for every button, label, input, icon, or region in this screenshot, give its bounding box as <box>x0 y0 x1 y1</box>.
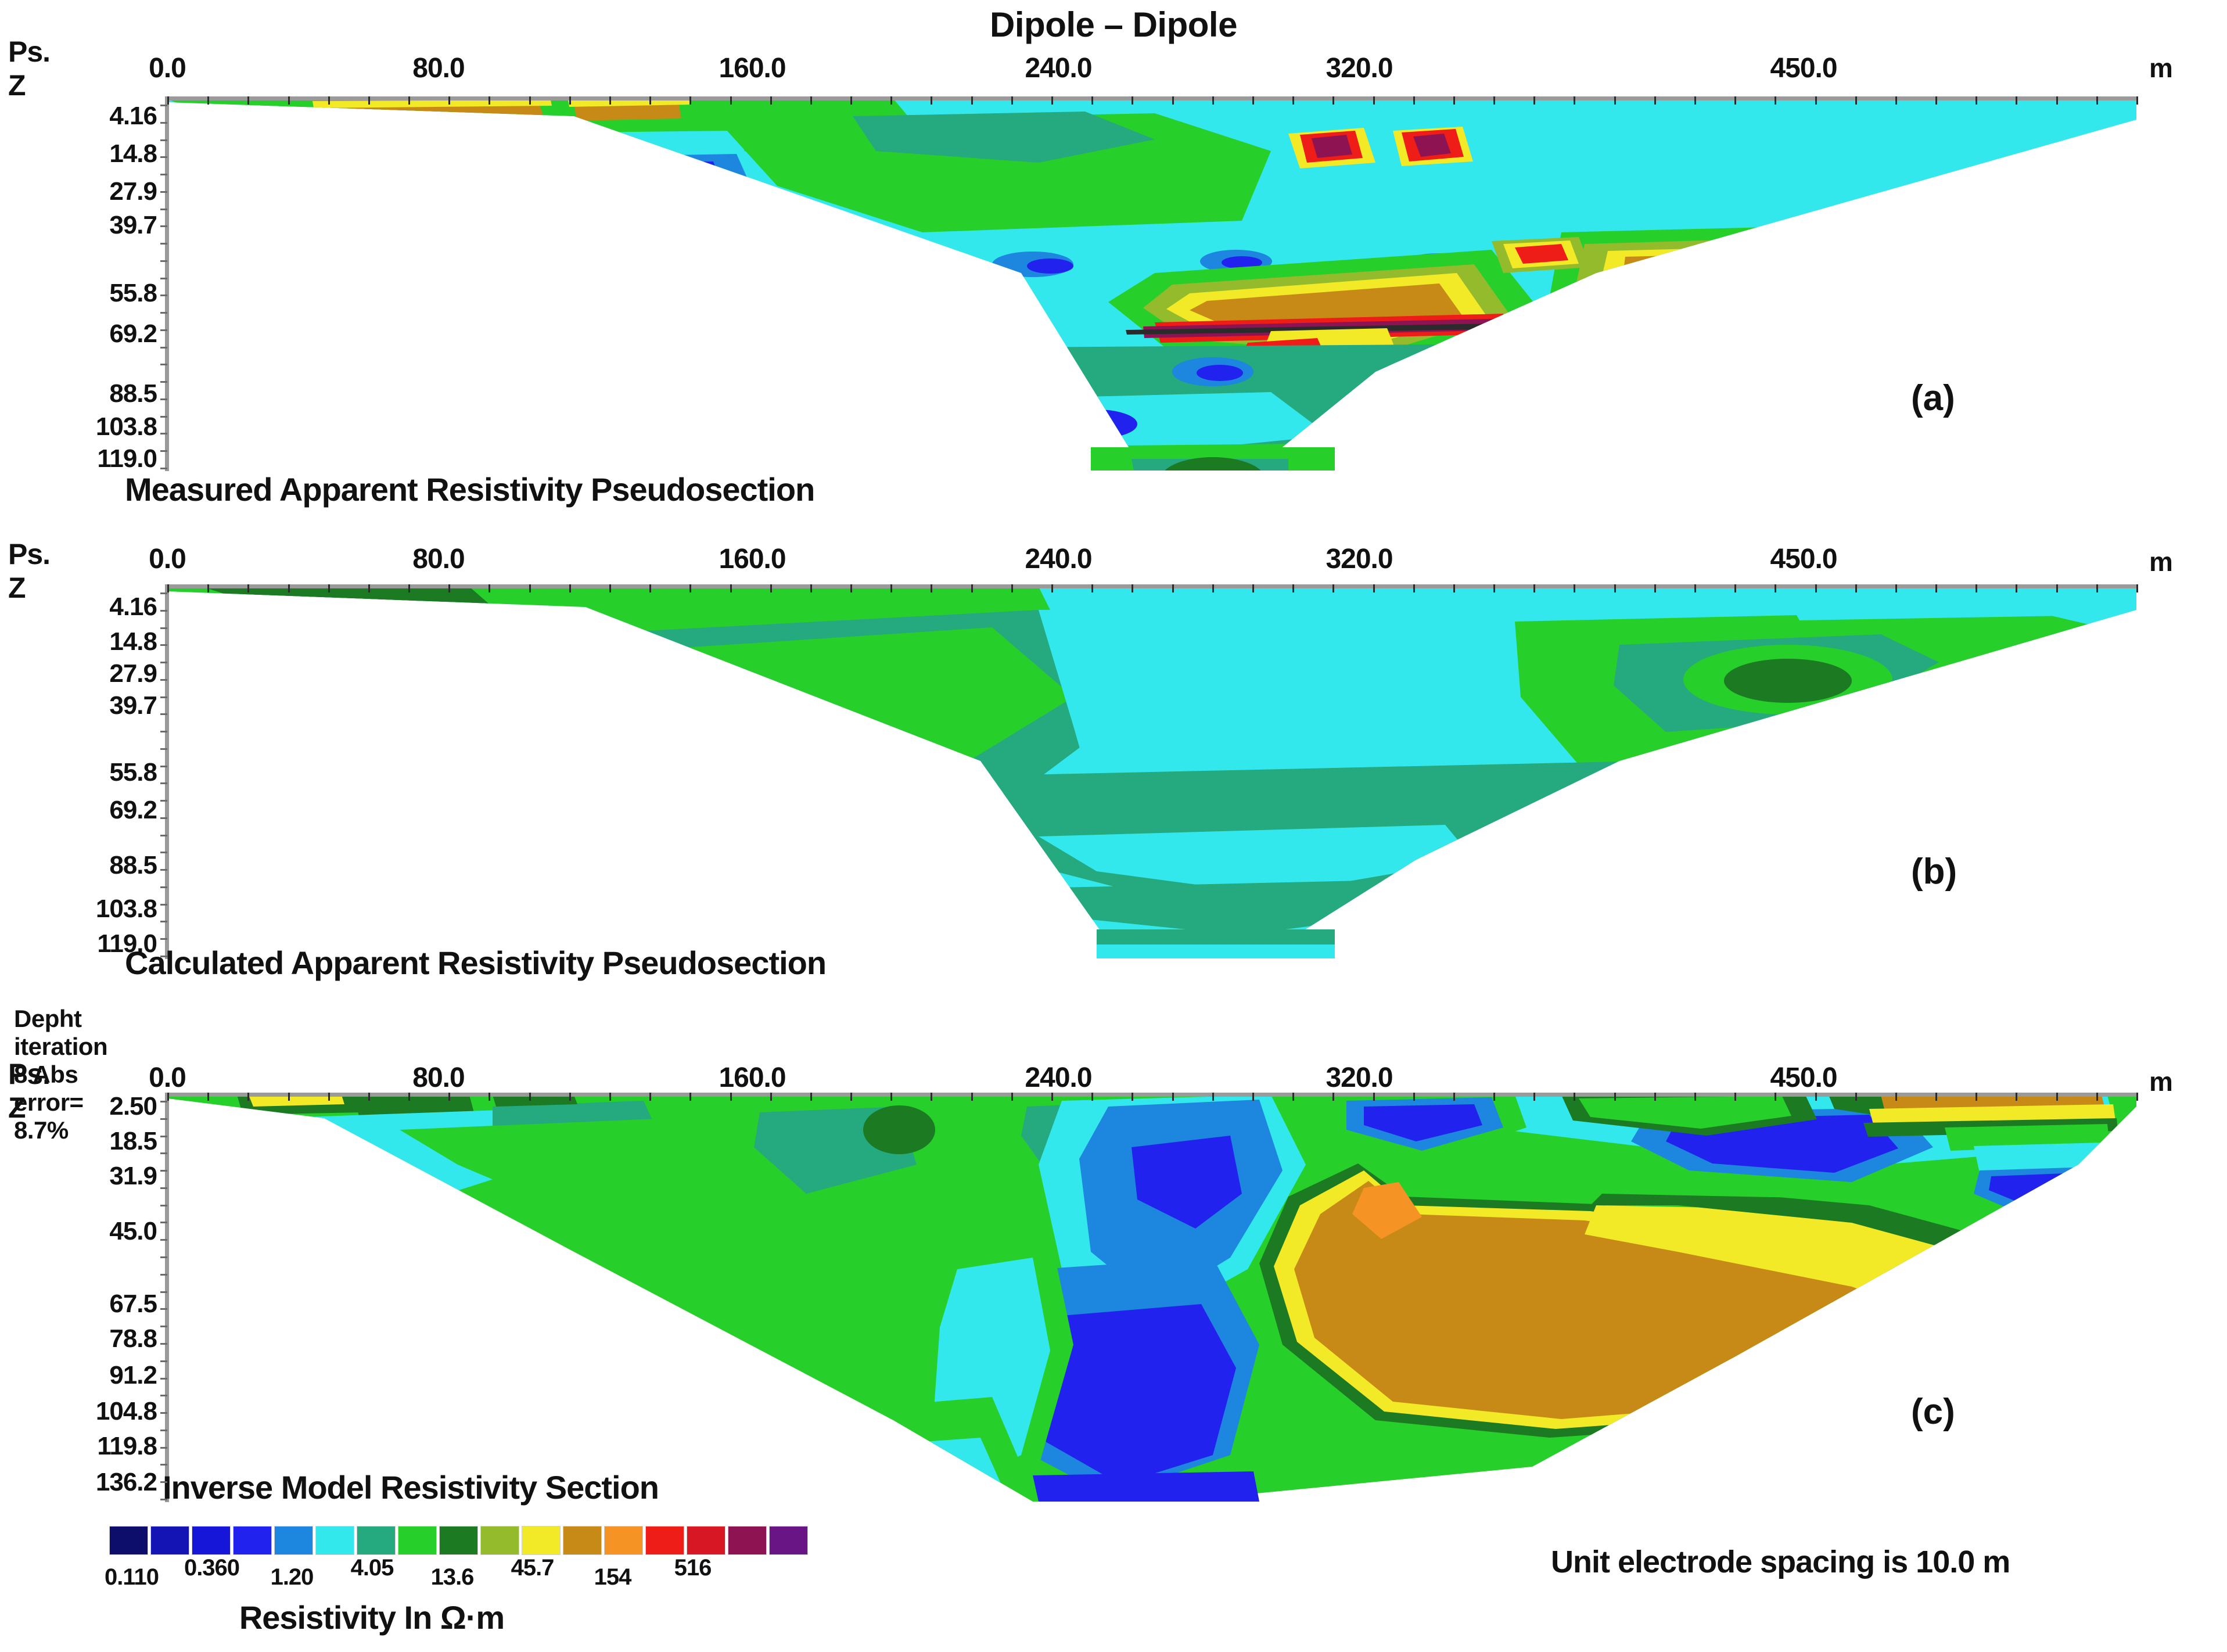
resistivity-colorbar <box>109 1526 808 1555</box>
panel-b-y-tickmark <box>160 662 167 663</box>
panel-c-y-tickmark <box>160 1464 167 1466</box>
panel-a-x-tickmark <box>207 96 209 105</box>
panel-c-x-tickmark <box>770 1093 772 1101</box>
panel-c-ytick-8: 119.8 <box>52 1432 157 1461</box>
panel-b-pseudosection-image <box>167 587 2136 958</box>
panel-b-x-tickmark <box>368 584 370 592</box>
panel-b-x-tickmark <box>288 584 290 592</box>
panel-a-x-tickmark <box>368 96 370 105</box>
panel-c-x-tickmark <box>1694 1093 1696 1101</box>
panel-b-x-tickmark <box>1292 584 1294 592</box>
panel-c-x-tickmark <box>730 1093 732 1101</box>
panel-b-y-axis <box>165 584 169 959</box>
panel-a-y-tickmark <box>160 450 167 452</box>
panel-c-y-tickmark <box>160 1187 167 1189</box>
panel-a-x-tickmark <box>529 96 531 105</box>
panel-c-xtick-0: 0.0 <box>149 1062 186 1094</box>
panel-c-x-tickmark <box>488 1093 490 1101</box>
panel-a-x-tickmark <box>288 96 290 105</box>
colorbar-swatch-8 <box>439 1526 478 1555</box>
panel-b-xtick-3: 240.0 <box>1025 543 1091 575</box>
panel-c-ytick-0: 2.50 <box>58 1092 157 1121</box>
panel-a-y-tickmark <box>160 260 167 262</box>
panel-b-y-tickmark <box>160 852 167 853</box>
panel-c-x-tickmark <box>1775 1093 1776 1101</box>
panel-a-ytick-4: 55.8 <box>64 279 157 308</box>
panel-a-x-tickmark <box>247 96 249 105</box>
panel-a-ytick-3: 39.7 <box>64 211 157 240</box>
panel-c-x-tickmark <box>810 1093 812 1101</box>
panel-b-x-tickmark <box>1051 584 1053 592</box>
colorbar-label-0: 0.110 <box>105 1564 159 1590</box>
panel-a-depth-axis-label: Ps. Z <box>8 35 50 102</box>
panel-a-y-tickmark <box>160 398 167 400</box>
panel-a-x-tickmark <box>1172 96 1174 105</box>
panel-a-y-tickmark <box>160 105 167 106</box>
panel-b-x-tickmark <box>1533 584 1535 592</box>
panel-a-ytick-7: 103.8 <box>58 412 157 441</box>
panel-b-x-tickmark <box>1011 584 1013 592</box>
panel-a-y-tickmark <box>160 329 167 331</box>
panel-a-y-tickmark <box>160 243 167 245</box>
panel-a-x-tickmark <box>1493 96 1495 105</box>
panel-a-x-tickmark <box>569 96 571 105</box>
panel-b-x-tickmark <box>1694 584 1696 592</box>
panel-c-ytick-9: 136.2 <box>52 1468 157 1497</box>
panel-c-x-tickmark <box>1132 1093 1133 1101</box>
panel-c-ytick-6: 91.2 <box>58 1361 157 1390</box>
panel-c-x-tickmark <box>1493 1093 1495 1101</box>
panel-c-y-tickmark <box>160 1326 167 1327</box>
colorbar-swatch-0 <box>109 1526 148 1555</box>
panel-a-y-tickmark <box>160 364 167 365</box>
panel-c-y-tickmark <box>160 1222 167 1223</box>
panel-b-x-tickmark <box>1815 584 1817 592</box>
panel-c-x-tickmark <box>1734 1093 1736 1101</box>
panel-b-ytick-5: 69.2 <box>64 796 157 825</box>
panel-c-y-tickmark <box>160 1256 167 1258</box>
panel-c-y-tickmark <box>160 1447 167 1449</box>
panel-c-x-tickmark <box>890 1093 892 1101</box>
panel-a-x-unit-label: m <box>2149 52 2173 84</box>
panel-b-x-tickmark <box>1975 584 1977 592</box>
panel-c-x-tickmark <box>1011 1093 1013 1101</box>
panel-a-x-tickmark <box>167 96 169 105</box>
panel-a-x-tickmark <box>1694 96 1696 105</box>
panel-a-x-tickmark <box>931 96 932 105</box>
panel-a-y-tickmark <box>160 312 167 314</box>
panel-c-inverse-model-image <box>167 1095 2136 1502</box>
panel-b-x-tickmark <box>689 584 691 592</box>
panel-a-ytick-5: 69.2 <box>64 319 157 349</box>
panel-c-xtick-3: 240.0 <box>1025 1062 1091 1094</box>
panel-b-x-tickmark <box>1734 584 1736 592</box>
panel-b-y-tickmark <box>160 644 167 646</box>
panel-a-x-tickmark <box>1815 96 1817 105</box>
panel-a-x-tickmark <box>1734 96 1736 105</box>
panel-c-x-tickmark <box>569 1093 571 1101</box>
panel-b-x-tickmark <box>770 584 772 592</box>
panel-c-x-tickmark <box>1292 1093 1294 1101</box>
panel-a-x-tickmark <box>1212 96 1214 105</box>
panel-c-y-tickmark <box>160 1395 167 1396</box>
panel-c-x-tickmark <box>1453 1093 1455 1101</box>
panel-c-x-tickmark <box>1614 1093 1616 1101</box>
colorbar-swatch-10 <box>522 1526 561 1555</box>
panel-c-x-tickmark <box>288 1093 290 1101</box>
panel-c-x-tickmark <box>328 1093 330 1101</box>
panel-c-x-tickmark <box>1373 1093 1375 1101</box>
panel-a-ytick-8: 119.0 <box>58 444 157 473</box>
panel-c-y-tickmark <box>160 1118 167 1120</box>
colorbar-swatch-2 <box>192 1526 231 1555</box>
panel-b-x-tickmark <box>1212 584 1214 592</box>
panel-b-x-tickmark <box>1373 584 1375 592</box>
panel-a-y-tickmark <box>160 122 167 124</box>
panel-a-x-tickmark <box>1292 96 1294 105</box>
panel-b-x-tickmark <box>2016 584 2017 592</box>
panel-b-x-tickmark <box>1132 584 1133 592</box>
panel-a-x-tickmark <box>689 96 691 105</box>
panel-c-x-tickmark <box>649 1093 651 1101</box>
panel-c-y-tickmark <box>160 1101 167 1102</box>
panel-b-ytick-6: 88.5 <box>64 851 157 880</box>
panel-c-x-tickmark <box>1574 1093 1575 1101</box>
panel-b-letter: (b) <box>1911 851 1957 892</box>
panel-b-x-tickmark <box>1413 584 1415 592</box>
panel-c-x-tickmark <box>1332 1093 1334 1101</box>
panel-b-x-tickmark <box>1895 584 1897 592</box>
panel-b-ytick-2: 27.9 <box>64 659 157 688</box>
panel-a-y-tickmark <box>160 433 167 434</box>
panel-b-x-tickmark <box>1453 584 1455 592</box>
panel-c-letter: (c) <box>1911 1391 1955 1432</box>
panel-a-x-tickmark <box>850 96 852 105</box>
panel-a-x-tickmark <box>1895 96 1897 105</box>
panel-c-y-tickmark <box>160 1205 167 1206</box>
panel-b-y-tickmark <box>160 610 167 612</box>
panel-c-x-tickmark <box>207 1093 209 1101</box>
panel-c-x-tickmark <box>1815 1093 1817 1101</box>
panel-b-x-unit-label: m <box>2149 546 2173 577</box>
panel-b-x-tickmark <box>1493 584 1495 592</box>
panel-c-x-tickmark <box>2136 1093 2138 1101</box>
colorbar-title: Resistivity In Ω·m <box>239 1599 504 1636</box>
panel-b-xtick-5: 450.0 <box>1770 543 1837 575</box>
panel-c-ytick-7: 104.8 <box>52 1397 157 1426</box>
panel-a-x-tickmark <box>1533 96 1535 105</box>
panel-b-y-tickmark <box>160 592 167 594</box>
colorbar-label-6: 154 <box>594 1564 631 1590</box>
panel-a-y-tickmark <box>160 156 167 158</box>
panel-a-y-tickmark <box>160 468 167 469</box>
panel-b-x-tickmark <box>448 584 450 592</box>
panel-b-x-tickmark <box>488 584 490 592</box>
panel-a-letter: (a) <box>1911 378 1955 419</box>
panel-a-y-axis <box>165 96 169 471</box>
panel-b-y-tickmark <box>160 904 167 906</box>
panel-a-xtick-1: 80.0 <box>412 52 464 84</box>
panel-c-x-tickmark <box>1975 1093 1977 1101</box>
panel-a-y-tickmark <box>160 225 167 227</box>
panel-a-x-tickmark <box>649 96 651 105</box>
panel-c-x-tickmark <box>408 1093 410 1101</box>
colorbar-label-2: 1.20 <box>271 1564 314 1590</box>
panel-c-x-tickmark <box>1413 1093 1415 1101</box>
panel-b-xtick-1: 80.0 <box>412 543 464 575</box>
panel-c-x-tickmark <box>2096 1093 2098 1101</box>
panel-b-x-tickmark <box>1614 584 1616 592</box>
panel-a-x-tickmark <box>2016 96 2017 105</box>
panel-c-x-tickmark <box>1935 1093 1937 1101</box>
panel-c-x-tickmark <box>850 1093 852 1101</box>
panel-b-xtick-2: 160.0 <box>719 543 785 575</box>
colorbar-label-7: 516 <box>674 1555 712 1581</box>
panel-b-x-tickmark <box>1091 584 1093 592</box>
panel-b-x-tickmark <box>1252 584 1254 592</box>
panel-a-xtick-5: 450.0 <box>1770 52 1837 84</box>
panel-a-x-tickmark <box>2056 96 2058 105</box>
colorbar-swatch-9 <box>480 1526 519 1555</box>
panel-b-y-tickmark <box>160 921 167 922</box>
panel-a-y-tickmark <box>160 191 167 193</box>
panel-b-y-tickmark <box>160 869 167 871</box>
panel-b-x-tickmark <box>649 584 651 592</box>
panel-a-x-axis <box>167 96 2136 100</box>
panel-b-plot-area <box>167 587 2136 958</box>
panel-b-x-tickmark <box>1935 584 1937 592</box>
panel-a-y-tickmark <box>160 295 167 296</box>
panel-b-x-tickmark <box>529 584 531 592</box>
panel-a-x-tickmark <box>1855 96 1857 105</box>
panel-b-x-tickmark <box>609 584 611 592</box>
panel-b-x-tickmark <box>2056 584 2058 592</box>
panel-b-x-tickmark <box>1855 584 1857 592</box>
panel-b-x-tickmark <box>167 584 169 592</box>
panel-a-x-tickmark <box>1574 96 1575 105</box>
panel-a-xtick-2: 160.0 <box>719 52 785 84</box>
panel-b-x-tickmark <box>2136 584 2138 592</box>
colorbar-swatch-14 <box>687 1526 725 1555</box>
panel-c-x-tickmark <box>971 1093 973 1101</box>
panel-c-x-tickmark <box>1895 1093 1897 1101</box>
colorbar-swatch-4 <box>274 1526 313 1555</box>
panel-b-ytick-1: 14.8 <box>64 627 157 656</box>
panel-b-y-tickmark <box>160 696 167 698</box>
panel-c-x-tickmark <box>448 1093 450 1101</box>
panel-a-y-tickmark <box>160 278 167 279</box>
electrode-spacing-note: Unit electrode spacing is 10.0 m <box>1551 1544 2010 1580</box>
panel-a-x-tickmark <box>890 96 892 105</box>
panel-b-x-tickmark <box>730 584 732 592</box>
panel-b-y-tickmark <box>160 886 167 888</box>
panel-b-ytick-4: 55.8 <box>64 758 157 787</box>
panel-a-x-tickmark <box>1413 96 1415 105</box>
panel-a-x-tickmark <box>2096 96 2098 105</box>
panel-b-x-tickmark <box>569 584 571 592</box>
panel-b-x-tickmark <box>810 584 812 592</box>
panel-c-x-tickmark <box>1533 1093 1535 1101</box>
figure-title: Dipole – Dipole <box>0 5 2227 45</box>
panel-c-x-unit-label: m <box>2149 1066 2173 1097</box>
panel-a-x-tickmark <box>1975 96 1977 105</box>
panel-a-x-tickmark <box>1654 96 1656 105</box>
panel-b-y-tickmark <box>160 679 167 681</box>
panel-c-x-tickmark <box>1051 1093 1053 1101</box>
panel-b-depth-axis-label: Ps. Z <box>8 537 50 605</box>
panel-b-y-tickmark <box>160 627 167 629</box>
panel-a-x-tickmark <box>609 96 611 105</box>
panel-b-x-tickmark <box>850 584 852 592</box>
panel-b-x-axis <box>167 584 2136 588</box>
panel-b-y-tickmark <box>160 800 167 802</box>
panel-b-y-tickmark <box>160 731 167 732</box>
colorbar-label-5: 45.7 <box>511 1555 554 1581</box>
panel-b-y-tickmark <box>160 748 167 750</box>
panel-b-y-tickmark <box>160 766 167 767</box>
colorbar-swatches <box>109 1526 808 1555</box>
panel-b-x-tickmark <box>971 584 973 592</box>
panel-a-x-tickmark <box>730 96 732 105</box>
panel-b-x-tickmark <box>931 584 932 592</box>
colorbar-swatch-3 <box>233 1526 272 1555</box>
panel-b-y-tickmark <box>160 956 167 957</box>
panel-a-xtick-3: 240.0 <box>1025 52 1091 84</box>
panel-a-x-tickmark <box>328 96 330 105</box>
panel-c-depth-axis-label: Ps. Z <box>8 1057 50 1125</box>
panel-c-y-tickmark <box>160 1152 167 1154</box>
panel-b-y-tickmark <box>160 835 167 836</box>
panel-c-y-tickmark <box>160 1430 167 1431</box>
panel-c-x-tickmark <box>689 1093 691 1101</box>
panel-c-ytick-1: 18.5 <box>58 1127 157 1156</box>
panel-a-x-tickmark <box>971 96 973 105</box>
panel-c-x-tickmark <box>529 1093 531 1101</box>
panel-a-x-tickmark <box>408 96 410 105</box>
panel-c-xtick-5: 450.0 <box>1770 1062 1837 1094</box>
panel-b-x-tickmark <box>247 584 249 592</box>
panel-a-x-tickmark <box>770 96 772 105</box>
panel-c-xtick-4: 320.0 <box>1326 1062 1392 1094</box>
panel-c-y-tickmark <box>160 1378 167 1380</box>
panel-c-y-tickmark <box>160 1360 167 1362</box>
panel-c-ytick-4: 67.5 <box>58 1290 157 1319</box>
colorbar-label-1: 0.360 <box>184 1555 239 1581</box>
panel-a-x-tickmark <box>1051 96 1053 105</box>
colorbar-swatch-16 <box>769 1526 808 1555</box>
panel-c-y-tickmark <box>160 1499 167 1500</box>
panel-c-y-tickmark <box>160 1170 167 1172</box>
panel-a-x-tickmark <box>1373 96 1375 105</box>
panel-a-y-tickmark <box>160 347 167 349</box>
panel-c-y-tickmark <box>160 1481 167 1483</box>
panel-a-x-tickmark <box>2136 96 2138 105</box>
panel-b-xtick-4: 320.0 <box>1326 543 1392 575</box>
panel-b-xtick-0: 0.0 <box>149 543 186 575</box>
panel-b-ytick-3: 39.7 <box>64 691 157 720</box>
panel-c-y-tickmark <box>160 1412 167 1414</box>
colorbar-swatch-12 <box>604 1526 643 1555</box>
panel-b-ytick-0: 4.16 <box>64 592 157 622</box>
panel-c-x-tickmark <box>1172 1093 1174 1101</box>
panel-b-x-tickmark <box>1332 584 1334 592</box>
panel-c-xtick-2: 160.0 <box>719 1062 785 1094</box>
panel-a-x-tickmark <box>448 96 450 105</box>
colorbar-swatch-15 <box>728 1526 767 1555</box>
panel-c-ytick-2: 31.9 <box>58 1162 157 1191</box>
panel-b-x-tickmark <box>890 584 892 592</box>
panel-c-y-tickmark <box>160 1274 167 1276</box>
panel-a-x-tickmark <box>1453 96 1455 105</box>
colorbar-swatch-1 <box>150 1526 189 1555</box>
panel-c-y-tickmark <box>160 1239 167 1241</box>
panel-a-y-tickmark <box>160 139 167 141</box>
panel-b-caption: Calculated Apparent Resistivity Pseudose… <box>125 944 826 982</box>
panel-c-x-tickmark <box>247 1093 249 1101</box>
panel-a-x-tickmark <box>488 96 490 105</box>
panel-b-x-tickmark <box>328 584 330 592</box>
panel-a-x-tickmark <box>1332 96 1334 105</box>
panel-c-x-tickmark <box>167 1093 169 1101</box>
panel-c-x-tickmark <box>1654 1093 1656 1101</box>
colorbar-label-4: 13.6 <box>431 1564 474 1590</box>
panel-a-x-tickmark <box>1935 96 1937 105</box>
panel-c-plot-area <box>167 1095 2136 1502</box>
panel-a-ytick-0: 4.16 <box>64 102 157 131</box>
panel-c-x-tickmark <box>1091 1093 1093 1101</box>
panel-a-plot-area <box>167 99 2136 471</box>
panel-b-x-tickmark <box>207 584 209 592</box>
panel-c-x-tickmark <box>368 1093 370 1101</box>
colorbar-label-3: 4.05 <box>351 1555 394 1581</box>
panel-c-x-axis <box>167 1093 2136 1097</box>
panel-c-ytick-5: 78.8 <box>58 1324 157 1353</box>
panel-a-xtick-0: 0.0 <box>149 52 186 84</box>
panel-c-y-tickmark <box>160 1343 167 1345</box>
panel-b-x-tickmark <box>2096 584 2098 592</box>
panel-c-xtick-1: 80.0 <box>412 1062 464 1094</box>
panel-a-x-tickmark <box>1091 96 1093 105</box>
panel-a-ytick-1: 14.8 <box>64 139 157 168</box>
panel-a-pseudosection-image <box>167 99 2136 471</box>
colorbar-swatch-5 <box>315 1526 354 1555</box>
panel-a-y-tickmark <box>160 416 167 418</box>
panel-b-x-tickmark <box>1172 584 1174 592</box>
panel-c-y-tickmark <box>160 1136 167 1137</box>
panel-b-ytick-7: 103.8 <box>58 895 157 924</box>
panel-c-x-tickmark <box>1252 1093 1254 1101</box>
colorbar-swatch-6 <box>357 1526 396 1555</box>
panel-a-y-tickmark <box>160 209 167 210</box>
panel-c-x-tickmark <box>2016 1093 2017 1101</box>
panel-a-x-tickmark <box>1011 96 1013 105</box>
panel-c-ytick-3: 45.0 <box>58 1217 157 1246</box>
panel-a-ytick-6: 88.5 <box>64 379 157 408</box>
panel-a-y-tickmark <box>160 381 167 383</box>
panel-c-x-tickmark <box>609 1093 611 1101</box>
panel-c-x-tickmark <box>1212 1093 1214 1101</box>
colorbar-swatch-7 <box>398 1526 437 1555</box>
panel-a-caption: Measured Apparent Resistivity Pseudosect… <box>125 471 814 508</box>
panel-c-caption: Inverse Model Resistivity Section <box>163 1468 659 1506</box>
panel-b-x-tickmark <box>1574 584 1575 592</box>
panel-b-x-tickmark <box>1775 584 1776 592</box>
panel-a-x-tickmark <box>810 96 812 105</box>
panel-b-x-tickmark <box>408 584 410 592</box>
colorbar-swatch-13 <box>645 1526 684 1555</box>
panel-c-y-tickmark <box>160 1291 167 1293</box>
panel-a-x-tickmark <box>1614 96 1616 105</box>
